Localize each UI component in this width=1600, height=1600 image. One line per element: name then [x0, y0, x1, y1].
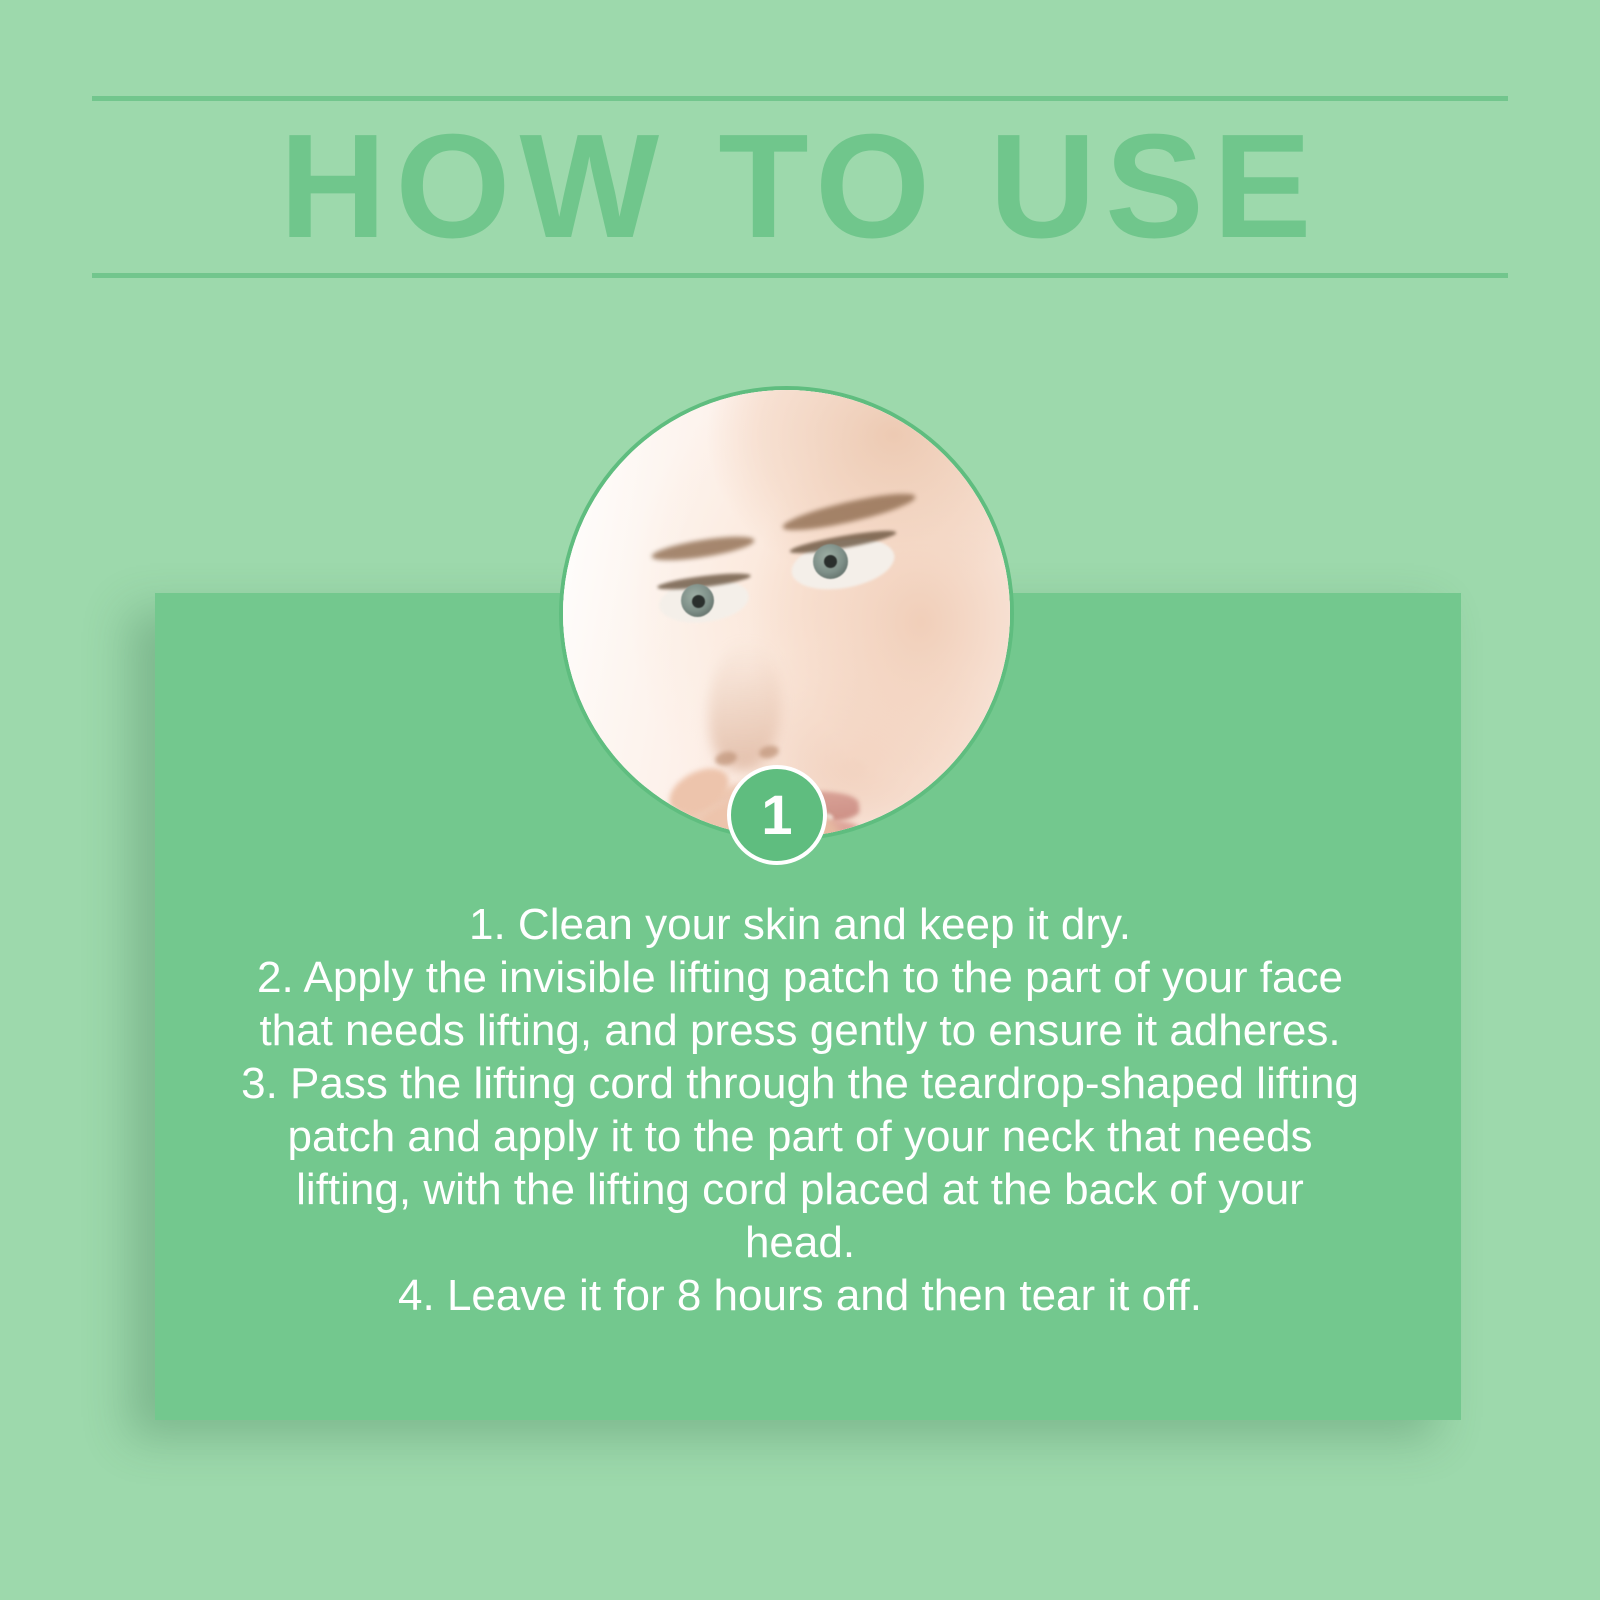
pupil-right-icon [824, 555, 837, 568]
how-to-use-poster: HOW TO USE 1 [0, 0, 1600, 1600]
page-title: HOW TO USE [92, 113, 1508, 261]
instruction-step: 1. Clean your skin and keep it dry. [240, 898, 1360, 951]
step-number-badge: 1 [727, 765, 827, 865]
instructions-list: 1. Clean your skin and keep it dry. 2. A… [240, 898, 1360, 1322]
title-rule-top [92, 96, 1508, 101]
instruction-step: 4. Leave it for 8 hours and then tear it… [240, 1269, 1360, 1322]
step-number-label: 1 [761, 787, 792, 843]
pupil-left-icon [692, 595, 705, 608]
instruction-step: 2. Apply the invisible lifting patch to … [240, 951, 1360, 1057]
instruction-step: 3. Pass the lifting cord through the tea… [240, 1057, 1360, 1269]
eyebrow-left-icon [650, 532, 755, 565]
header-band: HOW TO USE [92, 96, 1508, 278]
title-rule-bottom [92, 273, 1508, 278]
eyebrow-right-icon [780, 487, 917, 537]
